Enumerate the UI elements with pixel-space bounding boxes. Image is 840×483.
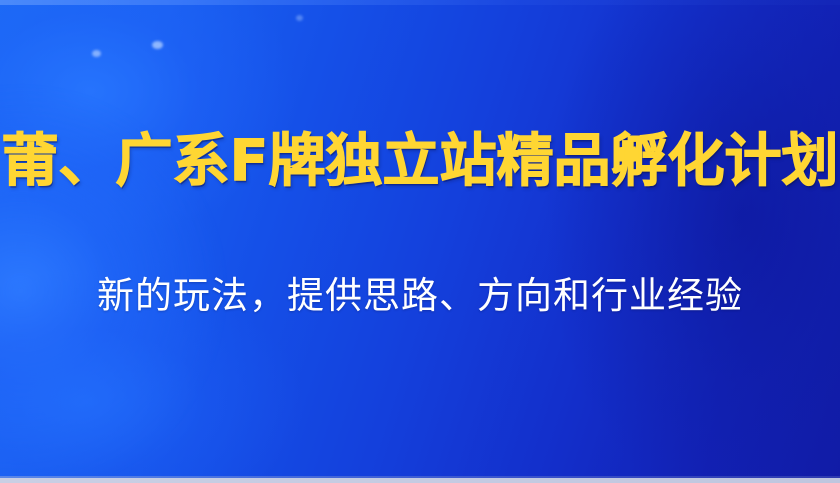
banner-content: 莆、广系F牌独立站精品孵化计划 新的玩法，提供思路、方向和行业经验 [0,0,840,483]
bottom-strip [0,478,840,483]
banner-headline: 莆、广系F牌独立站精品孵化计划 [0,133,840,190]
promo-banner: 莆、广系F牌独立站精品孵化计划 新的玩法，提供思路、方向和行业经验 [0,0,840,483]
banner-subheadline: 新的玩法，提供思路、方向和行业经验 [0,275,840,318]
